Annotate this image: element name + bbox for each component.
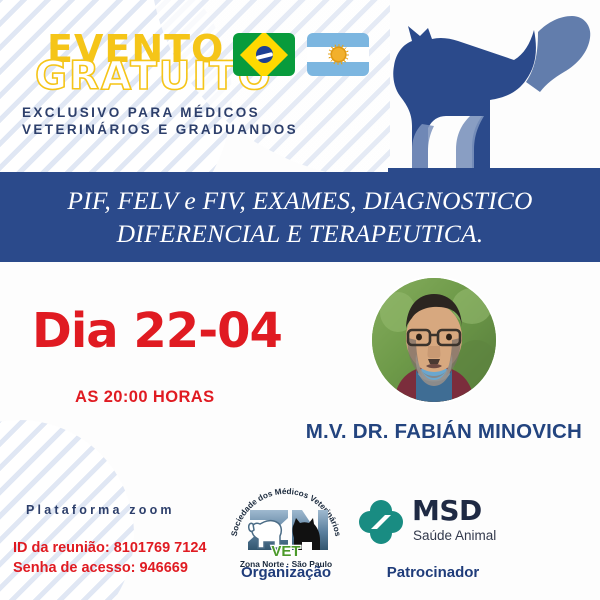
argentina-flag-icon <box>307 33 369 76</box>
speaker-photo <box>372 278 496 402</box>
target-audience-text: EXCLUSIVO PARA MÉDICOS VETERINÁRIOS E GR… <box>22 104 298 138</box>
lecture-title-line-2: DIFERENCIAL E TERAPEUTICA. <box>13 217 588 250</box>
msd-wordmark: MSD <box>412 497 482 525</box>
zn-logo-vet-text: VET <box>271 543 300 560</box>
speaker-avatar <box>372 278 496 402</box>
event-flyer: EVENTO GRATUITO EXCLUSIVO PARA MÉDICOS V… <box>0 0 600 600</box>
lecture-title-band: PIF, FELV e FIV, EXAMES, DIAGNOSTICO DIF… <box>0 172 600 262</box>
speaker-name: M.V. DR. FABIÁN MINOVICH <box>0 420 600 444</box>
argentina-flag-sun <box>332 48 345 61</box>
platform-label: Plataforma zoom <box>26 503 175 517</box>
lecture-title-line-1: PIF, FELV e FIV, EXAMES, DIAGNOSTICO <box>13 184 588 217</box>
event-date: Dia 22-04 <box>32 307 282 355</box>
msd-cloverleaf-icon <box>358 499 404 545</box>
audience-line-1: EXCLUSIVO PARA MÉDICOS <box>22 104 298 121</box>
meeting-id: ID da reunião: 8101769 7124 <box>13 538 206 558</box>
meeting-passcode: Senha de acesso: 946669 <box>13 558 206 578</box>
msd-logo: MSD Saúde Animal <box>358 495 508 555</box>
cat-silhouette-icon <box>388 8 600 178</box>
organizer-caption: Organização <box>226 564 346 581</box>
lecture-title: PIF, FELV e FIV, EXAMES, DIAGNOSTICO DIF… <box>13 184 588 250</box>
flyer-header: EVENTO GRATUITO EXCLUSIVO PARA MÉDICOS V… <box>0 0 600 172</box>
brazil-flag-icon <box>233 33 295 76</box>
event-time: AS 20:00 HORAS <box>75 388 214 407</box>
meeting-credentials: ID da reunião: 8101769 7124 Senha de ace… <box>13 538 206 578</box>
msd-subtitle: Saúde Animal <box>413 528 496 543</box>
zn-vet-logo: Sociedade dos Médicos Veterinários VET Z… <box>226 480 346 570</box>
sponsor-caption: Patrocinador <box>358 564 508 581</box>
audience-line-2: VETERINÁRIOS E GRADUANDOS <box>22 121 298 138</box>
